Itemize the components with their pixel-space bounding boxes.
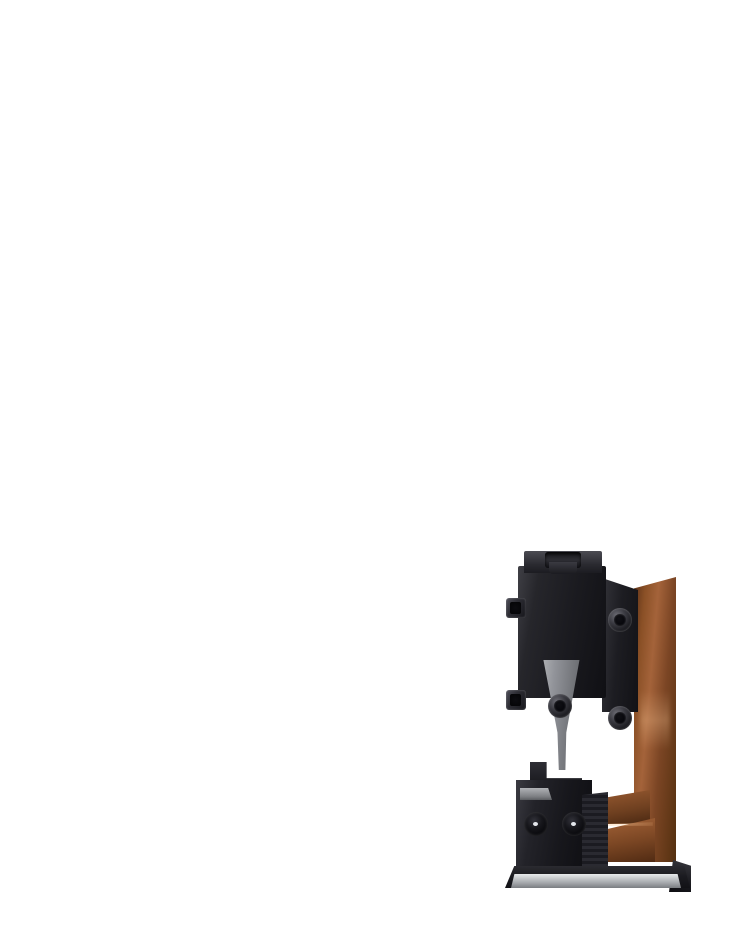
dial-digit: 0 — [168, 128, 173, 135]
dial-digit: 8 — [180, 212, 188, 218]
anvil-bore-left — [136, 358, 164, 386]
dial-digit: 1 — [169, 198, 174, 205]
product-text-otp-straight-mold: OTP straight mold Model: OTP straight mo… — [322, 78, 742, 433]
center-plate-top — [146, 98, 194, 112]
dial-digit: 2 — [157, 203, 164, 211]
product-card-otp-straight-mold: 0 9 8 7 6 5 4 3 2 1 1 0 9 8 7 6 5 4 3 2 — [0, 0, 750, 510]
dial-digit: 6 — [173, 224, 178, 231]
spec-item-model: Model: OTP single grain mold — [33, 632, 493, 668]
product-image-otp-straight-mold: 0 9 8 7 6 5 4 3 2 1 1 0 9 8 7 6 5 4 3 2 — [0, 0, 300, 510]
top-cap-slot — [118, 58, 148, 67]
spec-item-main-equipment: Main processing equipment: terminal crim… — [322, 361, 742, 397]
spec-item-customized: Provide customized processing: Yes — [33, 884, 493, 920]
dial-digit: 7 — [178, 218, 185, 226]
bolt-upper-left — [97, 118, 125, 146]
anvil-bore-left-glint — [144, 370, 149, 374]
bolt-upper-right — [208, 118, 236, 146]
spec-item-process-type: Process type: stamping mould — [33, 812, 493, 848]
dial-digit: 3 — [154, 212, 162, 218]
anvil-bore-right — [182, 358, 210, 386]
dial-digit: 9 — [179, 205, 187, 211]
spec-item-customized: Provide customized processing: Yes — [322, 397, 742, 433]
spec-item-weight: Weight: 4.5KG — [322, 181, 742, 217]
spec-item-slider-stroke: Slider stroke: 30mm — [322, 253, 742, 289]
dial-upper-hole — [161, 139, 179, 157]
anvil-center-pin — [166, 387, 180, 398]
product-text-otp-single-grain-mold: OTP single grain mold Model: OTP single … — [33, 565, 493, 920]
spec-list-product-1: Model: OTP straight mold Weight: 4.5KG F… — [322, 145, 742, 433]
spec-list-product-2: Model: OTP single grain mold Weight: 4.5… — [33, 632, 493, 920]
spec-item-die-knife: Die knife adjustment: scale rotary — [322, 289, 742, 325]
page-title-product-2: OTP single grain mold — [33, 565, 493, 594]
bolt-lower-right — [209, 246, 235, 272]
spec-item-feeding-block: Feeding block: 35mm — [33, 704, 493, 740]
product-card-otp-single-grain-mold: OTP single grain mold Model: OTP single … — [0, 510, 750, 931]
spec-item-main-equipment: Main processing equipment: terminal crim… — [33, 848, 493, 884]
bolt-lower-left-glint — [108, 264, 114, 267]
base-plate-texture — [16, 405, 246, 453]
dial-digit: 5 — [165, 223, 172, 231]
dial-digit: 4 — [163, 158, 170, 166]
dial-digit: 6 — [180, 152, 187, 160]
bolt-upper-left-glint — [113, 136, 118, 139]
dial-digit: 9 — [175, 129, 182, 137]
dial-digit: 8 — [180, 136, 188, 142]
spec-item-feeding-block: Feeding block: 35mm — [322, 217, 742, 253]
anvil-right-dark-block — [222, 330, 244, 382]
bolt-lower-right-glint — [226, 264, 232, 267]
bolt-upper-right-glint — [224, 136, 229, 139]
dial-digit: 2 — [150, 145, 158, 151]
spec-item-die-knife: Die knife adjustment: scale rotary — [33, 776, 493, 812]
dial-digit: 1 — [154, 134, 161, 142]
dial-digit: 7 — [182, 145, 190, 151]
spec-item-process-type: Process type: stamping mould — [322, 325, 742, 361]
scale-rotary-dial-lower[interactable]: 1 0 9 8 7 6 5 4 3 2 — [152, 196, 190, 234]
spec-item-weight: Weight: 4.5KG — [33, 668, 493, 704]
dial-digit: 5 — [173, 159, 178, 166]
bolt-center-lower — [155, 262, 185, 292]
dial-digit: 4 — [158, 219, 166, 225]
bolt-center-lower-glint — [166, 281, 173, 284]
page-title-product-1: OTP straight mold — [322, 78, 742, 107]
spec-item-slider-stroke: Slider stroke: 30mm — [33, 740, 493, 776]
hex-nut-icon — [47, 67, 75, 99]
dial-digit: 3 — [154, 153, 162, 159]
anvil-bore-right-glint — [190, 370, 195, 374]
bolt-lower-left — [99, 246, 125, 272]
spec-item-model: Model: OTP straight mold — [322, 145, 742, 181]
scale-rotary-dial-upper[interactable]: 0 9 8 7 6 5 4 3 2 1 — [147, 125, 193, 171]
